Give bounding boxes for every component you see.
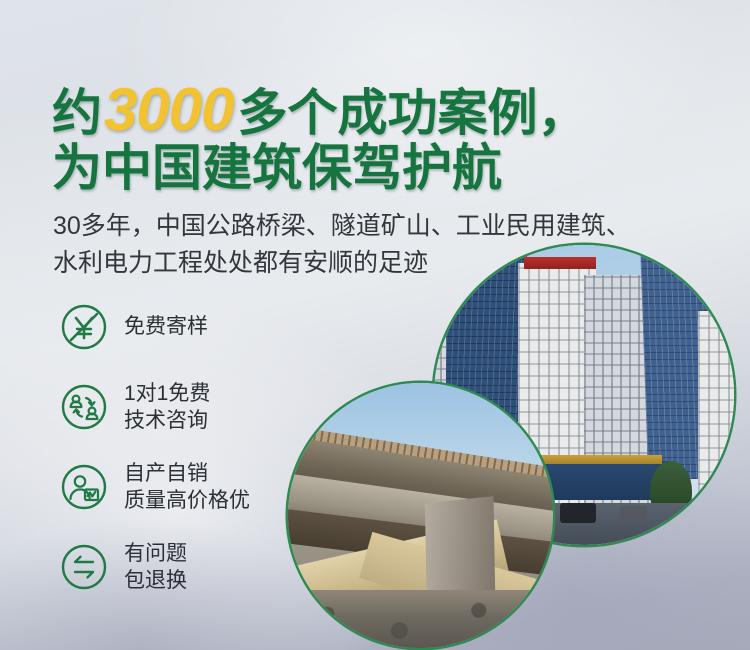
headline-prefix: 约 bbox=[52, 85, 102, 141]
building-car-3 bbox=[620, 506, 647, 521]
feature-line-1: 1对1免费 bbox=[124, 380, 210, 407]
feature-text-self-production: 自产自销 质量高价格优 bbox=[124, 460, 250, 515]
headline-line-1: 约3000多个成功案例， bbox=[52, 78, 712, 142]
feature-line-2: 质量高价格优 bbox=[124, 487, 250, 514]
feature-item-self-production[interactable]: 自产自销 质量高价格优 bbox=[58, 456, 308, 518]
building-far-right bbox=[698, 311, 734, 509]
swap-arrows-icon bbox=[58, 541, 110, 593]
feature-text-return-exchange: 有问题 包退换 bbox=[124, 540, 187, 595]
feature-text-free-sample: 免费寄样 bbox=[124, 313, 208, 340]
feature-item-free-sample[interactable]: 免费寄样 bbox=[58, 296, 308, 358]
feature-item-return-exchange[interactable]: 有问题 包退换 bbox=[58, 536, 308, 598]
no-fee-yuan-icon bbox=[58, 301, 110, 353]
feature-line-1: 免费寄样 bbox=[124, 313, 208, 340]
subtitle-line-2: 水利电力工程处处都有安顺的足迹 bbox=[53, 245, 723, 282]
headline-number: 3000 bbox=[102, 76, 237, 143]
feature-line-1: 有问题 bbox=[124, 540, 187, 567]
feature-text-consulting: 1对1免费 技术咨询 bbox=[124, 380, 210, 435]
bridge-photo bbox=[288, 383, 553, 648]
headline-suffix: 多个成功案例， bbox=[237, 85, 587, 141]
building-car-2 bbox=[560, 503, 596, 523]
subtitle: 30多年，中国公路桥梁、隧道矿山、工业民用建筑、 水利电力工程处处都有安顺的足迹 bbox=[53, 208, 723, 282]
feature-list: 免费寄样 1对1免费 技术咨询 bbox=[58, 296, 308, 616]
headline-line-2: 为中国建筑保驾护航 bbox=[52, 142, 712, 195]
two-people-exchange-icon bbox=[58, 381, 110, 433]
person-chart-icon bbox=[58, 461, 110, 513]
feature-line-2: 技术咨询 bbox=[124, 407, 210, 434]
feature-line-1: 自产自销 bbox=[124, 460, 250, 487]
bridge-construction-ground bbox=[288, 590, 553, 648]
promo-banner: 约3000多个成功案例， 为中国建筑保驾护航 30多年，中国公路桥梁、隧道矿山、… bbox=[0, 0, 750, 650]
feature-item-consulting[interactable]: 1对1免费 技术咨询 bbox=[58, 376, 308, 438]
subtitle-line-1: 30多年，中国公路桥梁、隧道矿山、工业民用建筑、 bbox=[53, 208, 723, 245]
feature-line-2: 包退换 bbox=[124, 567, 187, 594]
headline: 约3000多个成功案例， 为中国建筑保驾护航 bbox=[52, 78, 712, 195]
